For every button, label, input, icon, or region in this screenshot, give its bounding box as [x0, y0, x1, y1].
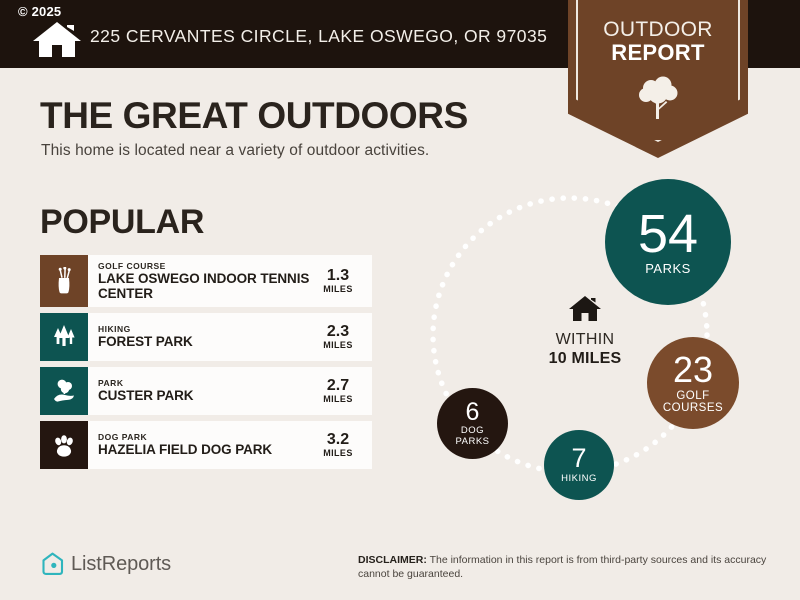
list-item-text: HIKING FOREST PARK	[88, 313, 310, 361]
home-icon	[568, 295, 602, 322]
stat-value: 6	[466, 400, 480, 425]
stat-label-line2: PARKS	[455, 437, 489, 447]
list-item-distance: 3.2 MILES	[310, 421, 372, 469]
popular-section-heading: POPULAR	[40, 203, 204, 242]
list-item[interactable]: HIKING FOREST PARK 2.3 MILES	[40, 313, 372, 361]
list-item-name: CUSTER PARK	[98, 389, 310, 404]
page-title: THE GREAT OUTDOORS	[40, 95, 468, 137]
stat-label-line1: GOLF	[663, 390, 723, 402]
tree-icon	[638, 75, 678, 121]
diagram-center-label: WITHIN 10 MILES	[520, 295, 650, 368]
list-item[interactable]: GOLF COURSE LAKE OSWEGO INDOOR TENNIS CE…	[40, 255, 372, 307]
disclaimer: DISCLAIMER: The information in this repo…	[358, 553, 778, 581]
stat-label: HIKING	[561, 474, 597, 484]
stat-value: 23	[673, 352, 713, 388]
copyright-text: © 2025	[18, 4, 61, 19]
distance-unit: MILES	[323, 284, 353, 295]
listreports-logo-text: ListReports	[71, 553, 171, 576]
center-line1: WITHIN	[520, 330, 650, 349]
badge-title-line2: REPORT	[568, 41, 748, 65]
page-subtitle: This home is located near a variety of o…	[41, 142, 429, 160]
listreports-logo-icon	[41, 552, 64, 576]
stat-label-line2: COURSES	[663, 402, 723, 414]
distance-value: 1.3	[327, 267, 349, 284]
distance-value: 2.3	[327, 323, 349, 340]
stat-value: 54	[638, 207, 698, 261]
list-item-text: DOG PARK HAZELIA FIELD DOG PARK	[88, 421, 310, 469]
home-icon	[31, 20, 83, 58]
stat-bubble-parks[interactable]: 54 PARKS	[605, 179, 731, 305]
distance-unit: MILES	[323, 394, 353, 405]
stat-value: 7	[571, 445, 586, 472]
distance-value: 2.7	[327, 377, 349, 394]
stat-label: DOG PARKS	[455, 426, 489, 447]
list-item-distance: 2.3 MILES	[310, 313, 372, 361]
pine-trees-icon	[40, 313, 88, 361]
infographic-page: © 2025 225 CERVANTES CIRCLE, LAKE OSWEGO…	[0, 0, 800, 600]
stat-bubble-dog-parks[interactable]: 6 DOG PARKS	[437, 388, 508, 459]
list-item-text: PARK CUSTER PARK	[88, 367, 310, 415]
stat-label-line1: DOG	[455, 426, 489, 436]
stat-bubble-hiking[interactable]: 7 HIKING	[544, 430, 614, 500]
list-item-distance: 1.3 MILES	[310, 255, 372, 307]
list-item-text: GOLF COURSE LAKE OSWEGO INDOOR TENNIS CE…	[88, 255, 310, 307]
disclaimer-label: DISCLAIMER:	[358, 554, 427, 566]
stat-label: PARKS	[645, 262, 691, 276]
paw-print-icon	[40, 421, 88, 469]
within-10-miles-diagram: 54 PARKS 23 GOLF COURSES 7 HIKING 6 DOG …	[415, 165, 785, 510]
listreports-logo[interactable]: ListReports	[41, 552, 171, 576]
list-item-distance: 2.7 MILES	[310, 367, 372, 415]
distance-unit: MILES	[323, 448, 353, 459]
distance-value: 3.2	[327, 431, 349, 448]
list-item-name: FOREST PARK	[98, 335, 310, 350]
property-address: 225 CERVANTES CIRCLE, LAKE OSWEGO, OR 97…	[90, 26, 547, 47]
stat-label: GOLF COURSES	[663, 390, 723, 415]
stat-bubble-golf-courses[interactable]: 23 GOLF COURSES	[647, 337, 739, 429]
list-item-name: LAKE OSWEGO INDOOR TENNIS CENTER	[98, 272, 310, 301]
popular-list: GOLF COURSE LAKE OSWEGO INDOOR TENNIS CE…	[40, 255, 372, 475]
distance-unit: MILES	[323, 340, 353, 351]
list-item[interactable]: PARK CUSTER PARK 2.7 MILES	[40, 367, 372, 415]
park-tree-path-icon	[40, 367, 88, 415]
badge-title-line1: OUTDOOR	[568, 18, 748, 42]
golf-bag-icon	[40, 255, 88, 307]
list-item-name: HAZELIA FIELD DOG PARK	[98, 443, 310, 458]
center-line2: 10 MILES	[520, 349, 650, 368]
list-item[interactable]: DOG PARK HAZELIA FIELD DOG PARK 3.2 MILE…	[40, 421, 372, 469]
